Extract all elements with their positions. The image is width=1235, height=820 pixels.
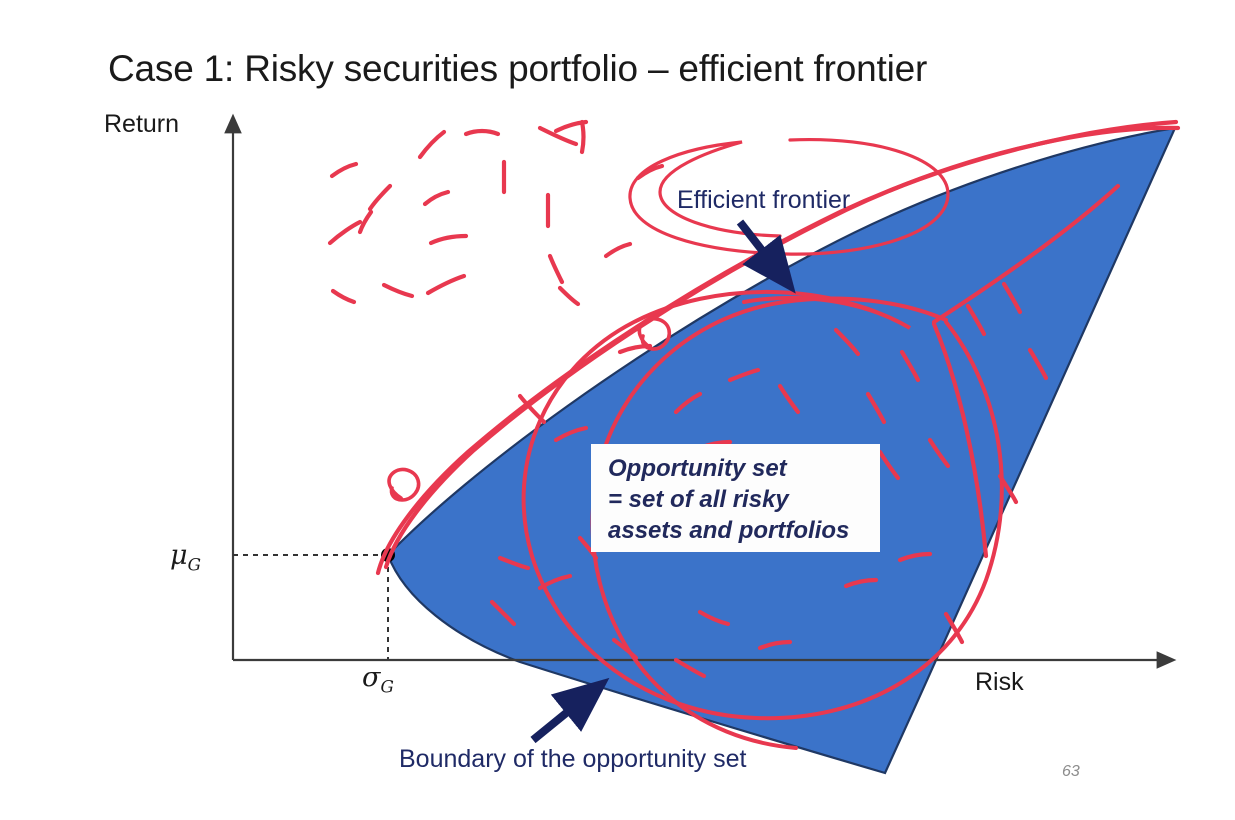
y-axis-label: Return xyxy=(104,110,179,139)
page-number: 63 xyxy=(1062,763,1080,781)
opportunity-line-2: = set of all risky xyxy=(608,484,880,515)
efficient-frontier-label: Efficient frontier xyxy=(677,186,850,215)
sigma-subscript: G xyxy=(380,676,393,696)
guide-lines xyxy=(233,555,388,659)
efficient-frontier-arrow xyxy=(740,222,782,276)
opportunity-line-3: assets and portfolios xyxy=(608,515,880,546)
opportunity-line-1: Opportunity set xyxy=(608,453,880,484)
efficient-frontier-figure xyxy=(0,0,1235,820)
sigma-g-tick-label: σG xyxy=(362,662,394,696)
mu-g-tick-label: μG xyxy=(170,540,201,574)
sigma-symbol: σ xyxy=(362,662,380,693)
x-axis-label: Risk xyxy=(975,668,1024,697)
slide-canvas: Case 1: Risky securities portfolio – eff… xyxy=(0,0,1235,820)
mu-symbol: μ xyxy=(170,540,188,571)
frontier-loop-lower xyxy=(389,469,419,500)
opportunity-set-textbox: Opportunity set = set of all risky asset… xyxy=(591,444,880,552)
boundary-label: Boundary of the opportunity set xyxy=(399,745,746,774)
boundary-arrow xyxy=(533,692,592,740)
mu-subscript: G xyxy=(188,554,201,574)
